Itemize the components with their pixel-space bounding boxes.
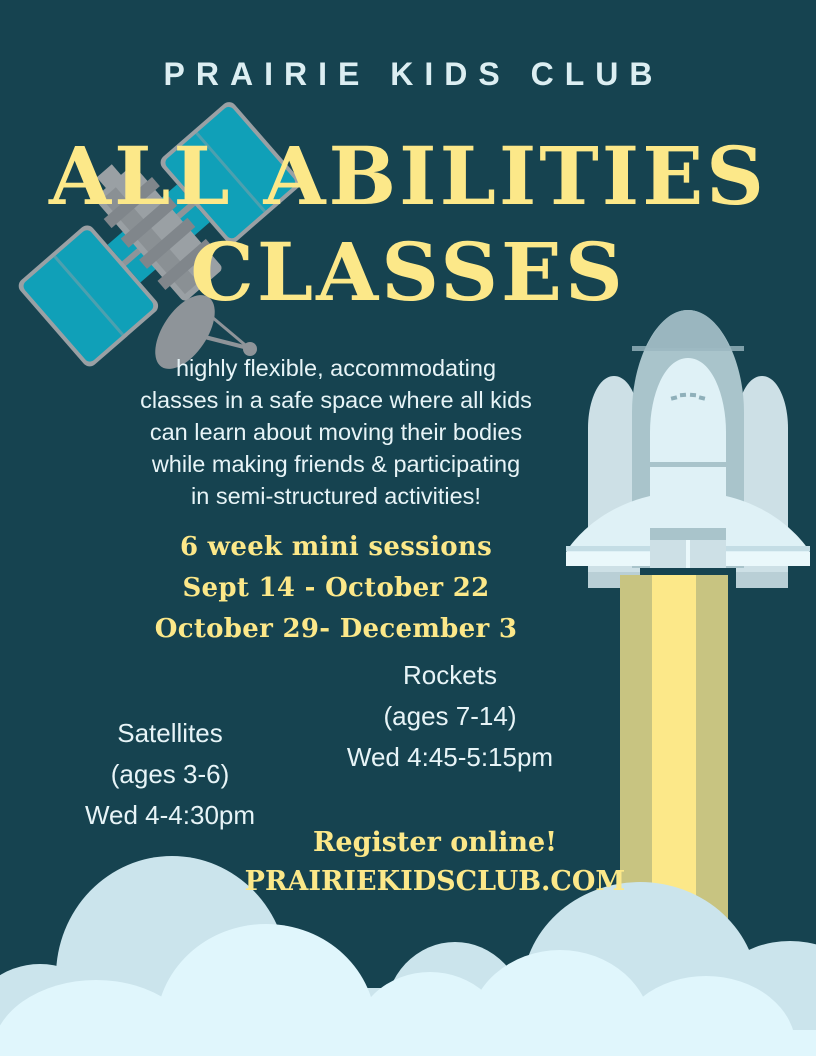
registration-cta: Register online! PRAIRIEKIDSCLUB.COM bbox=[240, 824, 630, 902]
description-line-3: can learn about moving their bodies bbox=[58, 416, 614, 448]
club-name-kicker: PRAIRIE KIDS CLUB bbox=[0, 56, 816, 93]
class-info-rockets: Rockets (ages 7-14) Wed 4:45-5:15pm bbox=[300, 655, 600, 778]
title-line-2: CLASSES bbox=[0, 224, 816, 320]
class-ages-satellites: (ages 3-6) bbox=[20, 754, 320, 795]
title-line-1: ALL ABILITIES bbox=[0, 128, 816, 224]
register-prompt: Register online! bbox=[240, 824, 630, 862]
poster-canvas: PRAIRIE KIDS CLUB ALL ABILITIES CLASSES … bbox=[0, 0, 816, 1056]
session-dates-block: 6 week mini sessions Sept 14 - October 2… bbox=[58, 527, 614, 650]
website-url[interactable]: PRAIRIEKIDSCLUB.COM bbox=[240, 862, 630, 902]
description-paragraph: highly flexible, accommodating classes i… bbox=[58, 352, 614, 512]
description-line-5: in semi-structured activities! bbox=[58, 480, 614, 512]
description-line-2: classes in a safe space where all kids bbox=[58, 384, 614, 416]
session-heading: 6 week mini sessions bbox=[58, 527, 614, 568]
description-line-1: highly flexible, accommodating bbox=[58, 352, 614, 384]
class-ages-rockets: (ages 7-14) bbox=[300, 696, 600, 737]
class-name-satellites: Satellites bbox=[20, 713, 320, 754]
session-date-1: Sept 14 - October 22 bbox=[58, 568, 614, 609]
class-time-rockets: Wed 4:45-5:15pm bbox=[300, 737, 600, 778]
class-info-satellites: Satellites (ages 3-6) Wed 4-4:30pm bbox=[20, 713, 320, 836]
class-name-rockets: Rockets bbox=[300, 655, 600, 696]
description-line-4: while making friends & participating bbox=[58, 448, 614, 480]
session-date-2: October 29- December 3 bbox=[58, 609, 614, 650]
page-title: ALL ABILITIES CLASSES bbox=[0, 128, 816, 320]
